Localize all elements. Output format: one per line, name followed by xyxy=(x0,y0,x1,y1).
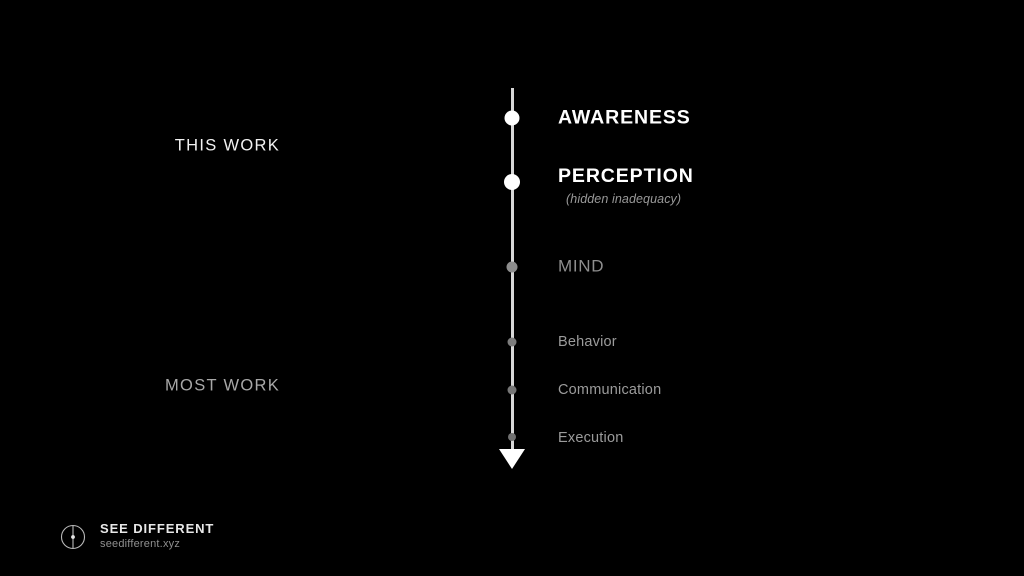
stage-label-behavior[interactable]: Behavior xyxy=(558,335,617,351)
stage-title-execution: Execution xyxy=(558,431,623,447)
stage-label-mind[interactable]: MIND xyxy=(558,258,604,277)
node-mind[interactable] xyxy=(507,262,518,273)
node-execution[interactable] xyxy=(508,433,516,441)
stage-subtitle-perception: (hidden inadequacy) xyxy=(566,192,694,206)
flow-axis-arrowhead-icon xyxy=(499,449,525,469)
stage-label-execution[interactable]: Execution xyxy=(558,431,623,447)
stage-label-communication[interactable]: Communication xyxy=(558,383,661,399)
aperture-circle-icon xyxy=(58,522,88,552)
stage-title-perception: PERCEPTION xyxy=(558,166,694,187)
stage-title-awareness: AWARENESS xyxy=(558,107,691,128)
node-awareness[interactable] xyxy=(505,111,520,126)
brand-url[interactable]: seedifferent.xyz xyxy=(100,537,214,552)
stage-title-mind: MIND xyxy=(558,258,604,277)
stage-title-behavior: Behavior xyxy=(558,335,617,351)
brand-name: SEE DIFFERENT xyxy=(100,521,214,537)
node-communication[interactable] xyxy=(508,386,517,395)
brand-text-block: SEE DIFFERENT seedifferent.xyz xyxy=(100,521,214,552)
stage-label-perception[interactable]: PERCEPTION (hidden inadequacy) xyxy=(558,166,694,206)
slide-canvas: THIS WORK MOST WORK AWARENESS PERCEPTION… xyxy=(0,0,1024,576)
side-label-this-work: THIS WORK xyxy=(175,137,280,156)
node-perception[interactable] xyxy=(504,174,520,190)
stage-label-awareness[interactable]: AWARENESS xyxy=(558,107,691,128)
brand-footer[interactable]: SEE DIFFERENT seedifferent.xyz xyxy=(58,521,214,552)
node-behavior[interactable] xyxy=(508,338,517,347)
side-label-most-work: MOST WORK xyxy=(165,377,280,396)
stage-title-communication: Communication xyxy=(558,383,661,399)
